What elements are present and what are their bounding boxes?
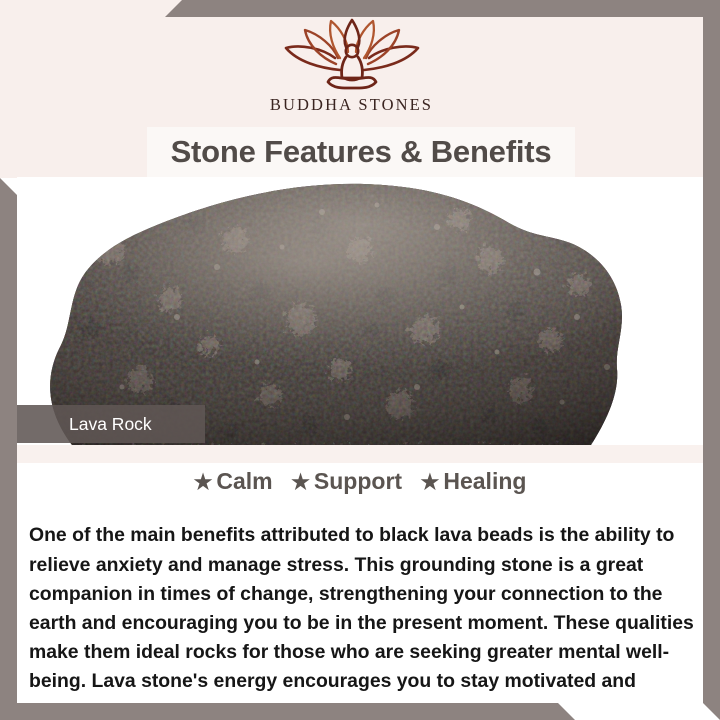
lotus-meditation-icon <box>278 18 426 92</box>
benefit-label: Calm <box>216 468 272 494</box>
section-divider <box>17 445 703 463</box>
description-paragraph: One of the main benefits attributed to b… <box>29 521 701 720</box>
star-icon: ★ <box>194 471 213 494</box>
star-icon: ★ <box>421 471 440 494</box>
page-title: Stone Features & Benefits <box>171 134 552 170</box>
star-icon: ★ <box>291 471 310 494</box>
photo-caption-label: Lava Rock <box>17 414 152 435</box>
benefits-row: ★Calm ★Support ★Healing <box>17 468 703 495</box>
benefit-label: Healing <box>443 468 526 494</box>
brand-logo: BUDDHA STONES <box>0 18 703 114</box>
frame-right-bar <box>703 0 720 720</box>
infographic-card: BUDDHA STONES Stone Features & Benefits <box>0 0 720 720</box>
brand-wordmark: BUDDHA STONES <box>0 97 703 114</box>
benefit-label: Support <box>314 468 402 494</box>
frame-left-bar <box>0 178 17 720</box>
title-banner: Stone Features & Benefits <box>147 127 575 177</box>
photo-caption-bar: Lava Rock <box>17 405 205 443</box>
benefit-item-healing: ★Healing <box>421 468 527 495</box>
benefit-item-calm: ★Calm <box>194 468 273 495</box>
benefit-item-support: ★Support <box>291 468 402 495</box>
